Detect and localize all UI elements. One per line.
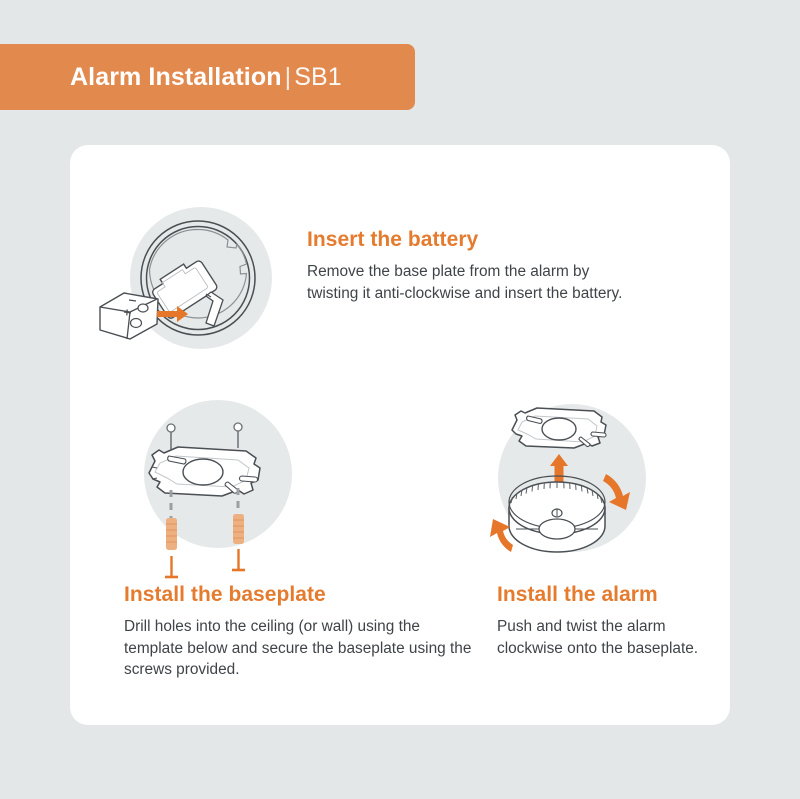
step-body-baseplate: Drill holes into the ceiling (or wall) u… <box>124 616 474 681</box>
step-body-alarm: Push and twist the alarm clockwise onto … <box>497 616 717 659</box>
alarm-center-vent <box>539 519 575 539</box>
battery-terminal-negative <box>131 319 142 328</box>
step-install-the-baseplate: Install the baseplate Drill holes into t… <box>124 583 474 681</box>
battery-terminal-positive <box>138 304 148 312</box>
mounting-slot-right <box>240 476 258 482</box>
mounting-slot-right <box>591 432 606 437</box>
battery-insertion-illustration <box>84 196 284 361</box>
step-heading-alarm: Install the alarm <box>497 583 717 607</box>
baseplate <box>512 408 606 448</box>
screw-left <box>165 556 178 578</box>
screw-right <box>232 549 245 571</box>
step-insert-the-battery: Insert the battery Remove the base plate… <box>307 228 637 304</box>
step-body-battery: Remove the base plate from the alarm by … <box>307 261 637 304</box>
page-title-separator: | <box>282 63 295 91</box>
page-title: Alarm Installation|SB1 <box>70 63 342 92</box>
header-banner: Alarm Installation|SB1 <box>0 44 415 110</box>
step-heading-baseplate: Install the baseplate <box>124 583 474 607</box>
baseplate-center-hole <box>542 418 576 440</box>
baseplate-center-hole <box>183 459 223 485</box>
page-title-model: SB1 <box>294 63 342 91</box>
page-title-main: Alarm Installation <box>70 63 282 91</box>
9v-battery <box>100 293 158 339</box>
step-install-the-alarm: Install the alarm Push and twist the ala… <box>497 583 717 659</box>
wall-plug-right <box>233 514 244 544</box>
alarm-attachment-illustration <box>480 396 665 571</box>
wall-plug-left <box>166 518 177 550</box>
baseplate-mounting-illustration <box>118 396 318 581</box>
baseplate <box>149 447 260 496</box>
step-heading-battery: Insert the battery <box>307 228 637 252</box>
